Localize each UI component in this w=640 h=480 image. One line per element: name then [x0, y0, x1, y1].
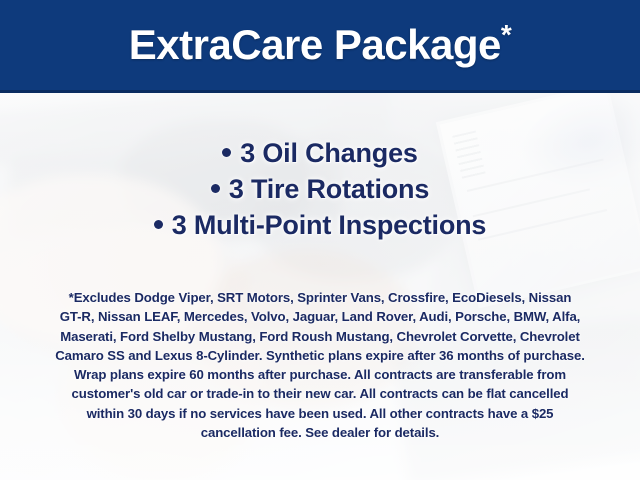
benefit-item-multi-point-inspections: 3 Multi-Point Inspections [0, 207, 640, 243]
benefit-label: 3 Multi-Point Inspections [172, 210, 487, 240]
benefit-label: 3 Oil Changes [240, 138, 417, 168]
page-title-text: ExtraCare Package [129, 21, 501, 68]
poster-content: 3 Oil Changes 3 Tire Rotations 3 Multi-P… [0, 93, 640, 480]
header-banner: ExtraCare Package* [0, 0, 640, 93]
disclaimer-text: *Excludes Dodge Viper, SRT Motors, Sprin… [28, 288, 612, 442]
benefit-label: 3 Tire Rotations [229, 174, 429, 204]
bullet-icon [222, 148, 231, 157]
disclaimer-line: within 30 days if no services have been … [28, 404, 612, 423]
disclaimer-line: GT-R, Nissan LEAF, Mercedes, Volvo, Jagu… [28, 307, 612, 326]
benefit-item-tire-rotations: 3 Tire Rotations [0, 171, 640, 207]
disclaimer-line: Camaro SS and Lexus 8-Cylinder. Syntheti… [28, 346, 612, 365]
disclaimer-line: Wrap plans expire 60 months after purcha… [28, 365, 612, 384]
benefits-list: 3 Oil Changes 3 Tire Rotations 3 Multi-P… [0, 135, 640, 243]
disclaimer-line: customer's old car or trade-in to their … [28, 384, 612, 403]
page-title-asterisk: * [501, 19, 511, 50]
disclaimer-line: *Excludes Dodge Viper, SRT Motors, Sprin… [28, 288, 612, 307]
benefit-item-oil-changes: 3 Oil Changes [0, 135, 640, 171]
bullet-icon [154, 220, 163, 229]
bullet-icon [211, 184, 220, 193]
disclaimer-line: cancellation fee. See dealer for details… [28, 423, 612, 442]
disclaimer-line: Maserati, Ford Shelby Mustang, Ford Rous… [28, 327, 612, 346]
page-title: ExtraCare Package* [129, 24, 512, 66]
extracare-package-poster: ExtraCare Package* 3 Oil Changes 3 Tire … [0, 0, 640, 480]
